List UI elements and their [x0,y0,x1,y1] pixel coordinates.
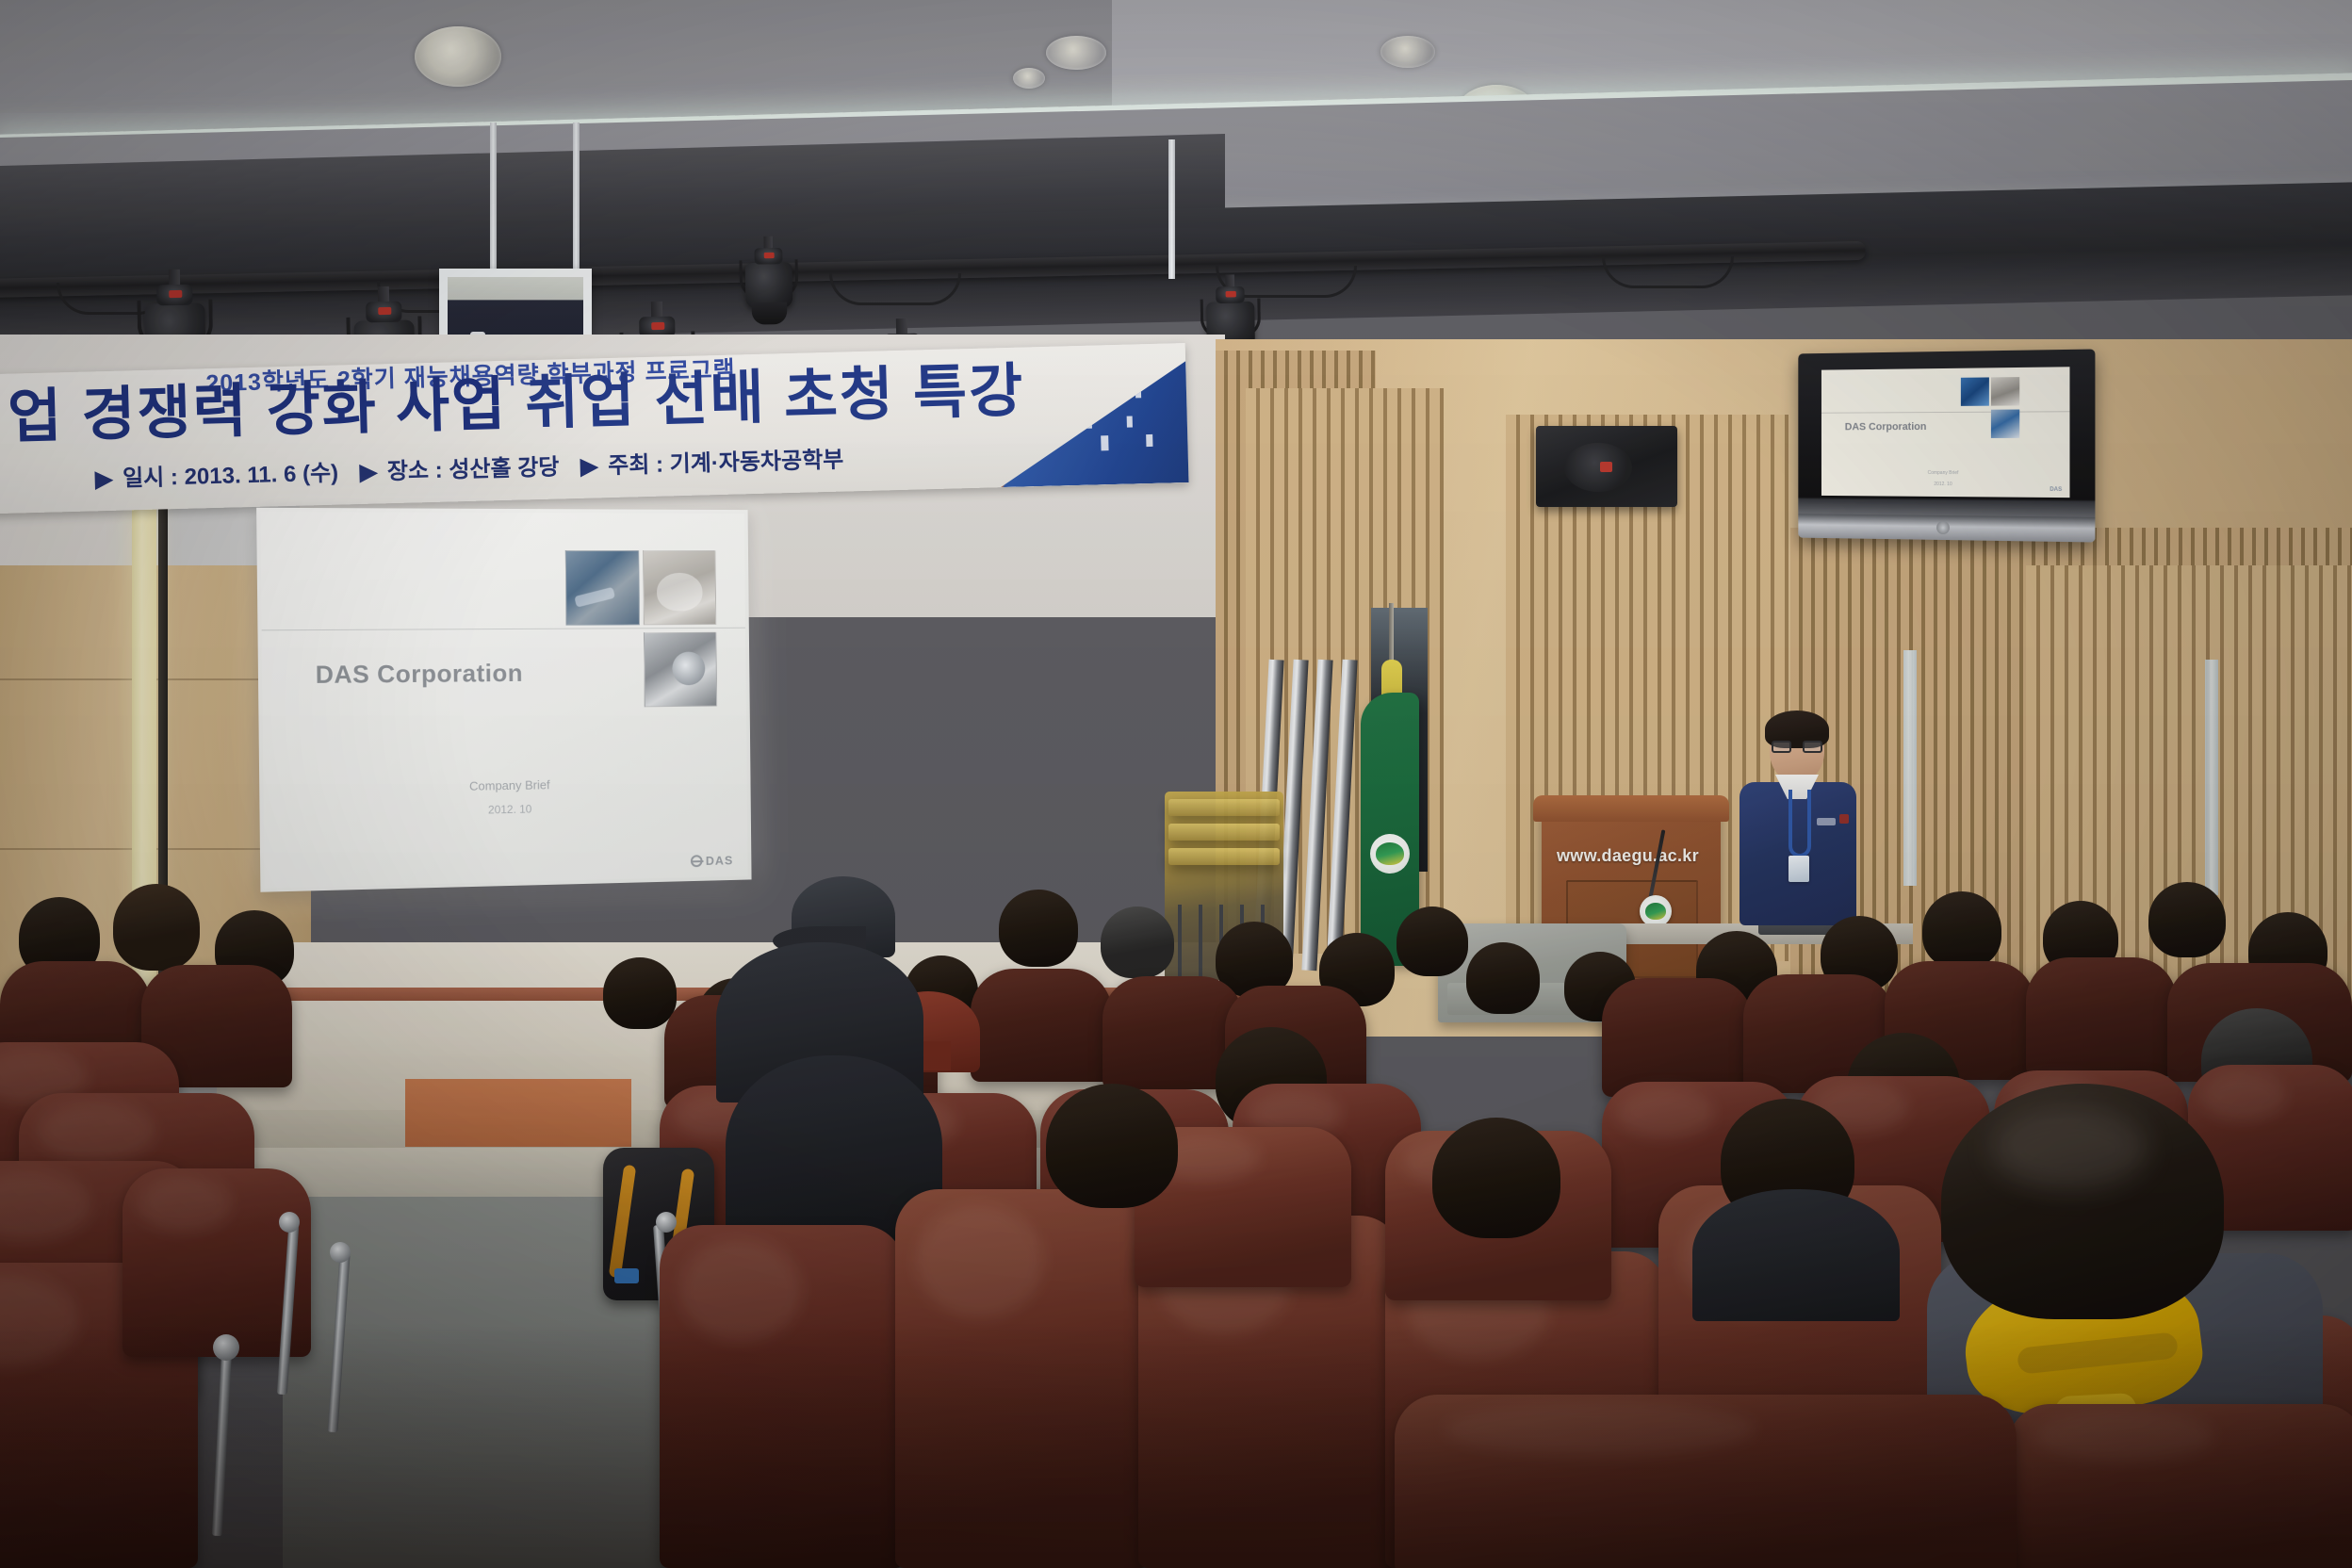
audience-seat[interactable] [2026,957,2177,1076]
wall-loudspeaker [1536,426,1677,507]
banner-date-label: 일시 [122,465,165,491]
foreground-person-head [1941,1084,2224,1319]
id-badge [1788,856,1809,882]
tv-slide-thumb-seat [1991,377,2019,406]
jacket-red-patch [1839,814,1849,824]
auditorium-photo-scene: DAS Corporation Company Brief 2012. 10 D… [0,0,2352,1568]
slide-logo: DAS [690,853,733,868]
seat-hinge-icon [330,1242,351,1263]
bullet-icon: ▶ [580,453,598,479]
podium-url-text: www.daegu.ac.kr [1557,846,1717,866]
downlight-icon [1013,68,1045,89]
downlight-icon [1046,36,1106,70]
wall-light-panel [2205,660,2218,895]
banner-place-value: 성산홀 강당 [449,454,560,482]
glasses-icon [1772,741,1822,753]
audience-head [1101,906,1174,978]
truss-hanger-rod [490,122,497,287]
audience-head [603,957,677,1029]
banner-headline-part1: 취업 경쟁력 강화 사업 [0,372,508,451]
seat-hinge-icon [279,1212,300,1233]
slide-thumbnail-seat [643,550,716,625]
jacket-logo-patch [1817,818,1836,825]
projection-screen: DAS Corporation Company Brief 2012. 10 D… [256,508,751,892]
audience-seat[interactable] [1395,1395,2017,1568]
audience-head [1922,891,2001,969]
downlight-icon [415,26,501,87]
tv-slide-subtitle: Company Brief [1821,469,2070,476]
banner-date-value: 2013. 11. 6 (수) [184,461,338,490]
presenter-person [1734,716,1866,923]
banner-headline: 취업 경쟁력 강화 사업 취업 선배 초청 특강 [0,362,1037,449]
tv-slide-rule [1821,411,2070,413]
banner-host-label: 주최 [608,452,650,479]
podium-emblem-icon [1640,895,1672,927]
audience-head [1396,906,1468,976]
tv-slide-content: DAS Corporation Company Brief 2012. 10 D… [1821,367,2070,498]
seat-hinge-icon [656,1212,677,1233]
presentation-slide: DAS Corporation Company Brief 2012. 10 D… [260,512,747,889]
flag-emblem-icon [1370,834,1410,874]
downlight-icon [1380,36,1435,68]
slide-divider-rule [262,628,745,631]
slide-date: 2012. 10 [264,798,747,821]
banner-headline-part2: 취업 선배 초청 특강 [524,358,1025,436]
tv-slide-thumb-gear [1991,410,2019,438]
tv-screen: DAS Corporation Company Brief 2012. 10 D… [1821,367,2070,498]
banner-host-value: 기계·자동차공학부 [669,448,843,478]
speaker-led-icon [1600,462,1612,472]
slide-thumbnail-engine [565,550,640,626]
truss-hanger-rod [573,122,580,283]
audience-head [1046,1084,1178,1208]
audience-head [113,884,200,971]
banner-details: ▶ 일시 : 2013. 11. 6 (수) ▶ 장소 : 성산홀 강당 ▶ 주… [79,441,843,494]
slide-title: DAS Corporation [316,659,524,690]
audience-seat[interactable] [2007,1404,2352,1568]
audience-head [1432,1118,1560,1238]
stage-par-light [734,246,803,325]
wall-light-panel [1903,650,1917,886]
truss-hanger-rod [1168,139,1175,279]
audience-seat[interactable] [971,969,1112,1082]
audience-shoulders [1692,1189,1900,1321]
backpack-buckle-icon [614,1268,639,1283]
bullet-icon: ▶ [359,459,377,484]
audience-head [1466,942,1540,1014]
tv-slide-thumb-engine [1961,377,1989,405]
tv-slide-logo: DAS [2050,487,2062,493]
audience-head [2148,882,2226,957]
tv-power-button-icon[interactable] [1936,521,1950,534]
podium-top [1533,795,1729,822]
seat-hinge-icon [213,1334,239,1361]
banner-sep-3: : [656,452,664,478]
bullet-icon: ▶ [95,466,113,492]
banner-sep-1: : [171,465,179,490]
slide-subtitle: Company Brief [263,775,746,797]
slide-logo-text: DAS [706,853,733,867]
audience-seat[interactable] [1602,978,1753,1097]
audience-head [999,890,1078,967]
speaker-cone-icon [1564,443,1632,492]
tv-slide-date: 2012. 10 [1821,481,2070,488]
wall-mounted-tv[interactable]: DAS Corporation Company Brief 2012. 10 D… [1798,349,2095,542]
banner-place-label: 장소 [387,458,430,484]
truss-cable [1602,256,1734,288]
seat-support-leg [212,1347,232,1536]
truss-cable [829,273,961,305]
stage-step [405,1079,631,1147]
das-logo-mark-icon [690,855,702,867]
banner-sep-2: : [434,458,443,483]
tv-slide-title: DAS Corporation [1845,421,1927,433]
slide-thumbnail-gear [644,632,717,708]
audience-seat[interactable] [660,1225,905,1568]
lanyard [1788,790,1811,857]
audience-seat[interactable] [895,1189,1150,1568]
